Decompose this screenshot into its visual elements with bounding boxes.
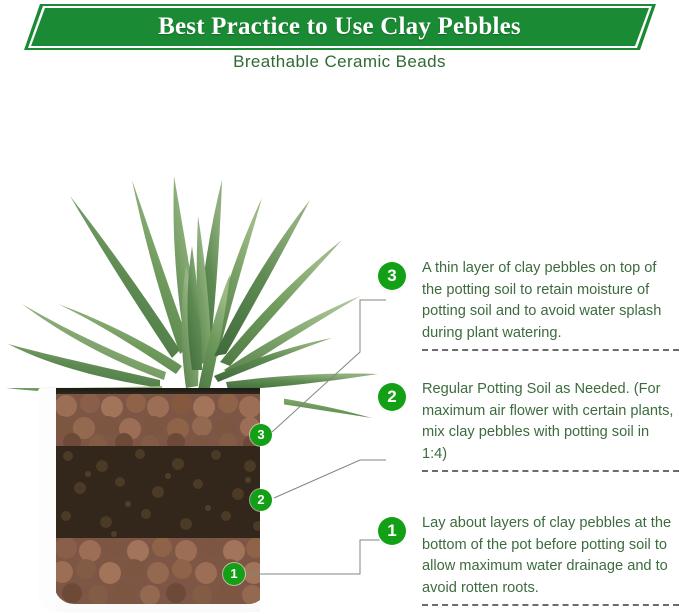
page-subtitle: Breathable Ceramic Beads: [0, 52, 679, 72]
potting-soil-layer: [54, 446, 268, 540]
header-banner: Best Practice to Use Clay Pebbles: [0, 4, 679, 50]
photo-pin-2[interactable]: 2: [250, 489, 272, 511]
callout-text-1: Lay about layers of clay pebbles at the …: [422, 513, 679, 599]
callout-divider-1: [422, 604, 679, 606]
page-title: Best Practice to Use Clay Pebbles: [0, 4, 679, 50]
callout-badge-3[interactable]: 3: [378, 262, 406, 290]
callout-block-2: 2 Regular Potting Soil as Needed. (For m…: [378, 379, 679, 472]
callout-text-3: A thin layer of clay pebbles on top of t…: [422, 258, 679, 344]
photo-pin-3[interactable]: 3: [250, 424, 272, 446]
callout-badge-1[interactable]: 1: [378, 517, 406, 545]
callout-block-1: 1 Lay about layers of clay pebbles at th…: [378, 513, 679, 606]
pot-left-edge: [38, 388, 56, 612]
aloe-plant-icon: [0, 88, 390, 418]
callout-text-2: Regular Potting Soil as Needed. (For max…: [422, 379, 679, 465]
callout-divider-3: [422, 349, 679, 351]
top-clay-pebble-layer: [54, 394, 268, 448]
pebble-texture-top: [54, 394, 268, 448]
callout-divider-2: [422, 470, 679, 472]
callout-block-3: 3 A thin layer of clay pebbles on top of…: [378, 258, 679, 351]
callout-badge-2[interactable]: 2: [378, 383, 406, 411]
plant-photo: [0, 88, 390, 614]
soil-texture: [54, 446, 268, 540]
plant-pot: [38, 388, 284, 612]
photo-pin-1[interactable]: 1: [223, 563, 245, 585]
